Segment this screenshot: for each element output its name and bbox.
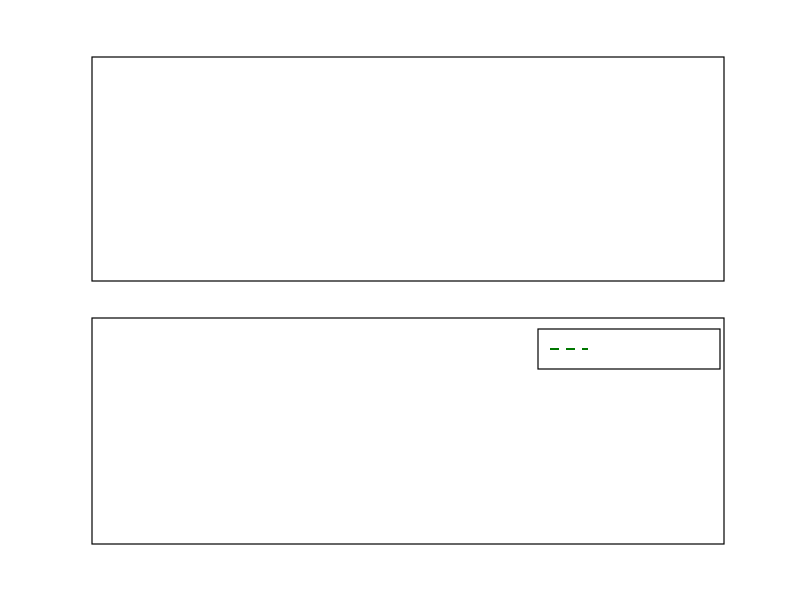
matplotlib-figure (0, 0, 800, 600)
figure-canvas (0, 0, 800, 600)
top-axes (92, 57, 724, 281)
legend-box (538, 329, 720, 369)
legend[interactable] (538, 329, 720, 369)
top-axes-frame (92, 57, 724, 281)
